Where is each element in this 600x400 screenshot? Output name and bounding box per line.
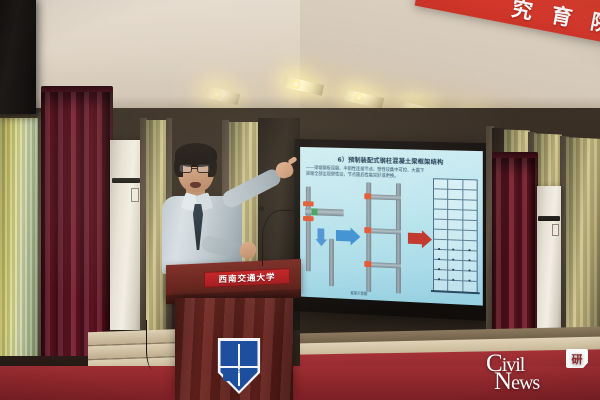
emblem-rail-bar bbox=[242, 350, 255, 352]
slide-ladder-beam-3 bbox=[366, 262, 401, 268]
slide-arrow-red-head bbox=[422, 230, 432, 249]
watermark-n: N bbox=[494, 368, 511, 395]
microphone-head bbox=[259, 206, 264, 211]
curtain-right bbox=[492, 158, 538, 336]
slide-detail-joint-green bbox=[312, 208, 318, 215]
banner-char-2: 育 bbox=[549, 0, 575, 33]
projection-screen: 6）预制装配式钢柱混凝土梁框架结构 ——梁端钢板屈服、半刚性连接节点，塑性铰集中… bbox=[300, 147, 483, 306]
ac-badge-right bbox=[552, 224, 559, 236]
wall-panel-olive-right-3 bbox=[566, 137, 600, 331]
watermark-civil-news: Civil News 研 bbox=[484, 348, 592, 396]
slide-arrow-red-body bbox=[408, 233, 423, 245]
slide-grid-hinge bbox=[438, 258, 440, 260]
watermark-badge: 研 bbox=[566, 349, 588, 368]
slide-grid-hinge bbox=[438, 248, 440, 250]
slide-grid-hinge bbox=[468, 259, 470, 261]
floor-cable bbox=[146, 320, 164, 370]
slide-arrow-down-head bbox=[315, 239, 327, 246]
slide-grid-hinge bbox=[438, 268, 440, 270]
slide-grid-hinge bbox=[468, 269, 470, 271]
loudspeaker-box bbox=[0, 0, 36, 114]
microphone-gooseneck bbox=[262, 210, 298, 266]
presenter-glasses-left-lens bbox=[179, 164, 192, 173]
slide-ladder-joint-1 bbox=[364, 193, 371, 199]
presenter-finger bbox=[287, 156, 297, 165]
slide-grid-vline bbox=[462, 179, 463, 292]
presenter-glasses-right-lens bbox=[197, 164, 210, 173]
presenter-mouth bbox=[190, 182, 201, 188]
slide-grid-hinge bbox=[452, 248, 454, 250]
ac-unit-left bbox=[110, 140, 142, 330]
slide-detail-column-lower bbox=[329, 239, 334, 287]
slide-detail-column bbox=[306, 186, 311, 271]
slide-ladder-joint-3 bbox=[364, 261, 371, 267]
slide-grid-hinge bbox=[452, 259, 454, 261]
presenter-glasses-bridge bbox=[192, 168, 197, 169]
slide-grid-hinge bbox=[468, 249, 470, 251]
slide-grid-hinge bbox=[452, 279, 454, 281]
slide-detail-joint-bottom bbox=[303, 216, 314, 221]
emblem-gear-glyph bbox=[223, 374, 234, 381]
slide-detail-joint-top bbox=[303, 201, 314, 206]
curtain-left bbox=[41, 92, 113, 368]
banner-char-3: 院 bbox=[588, 6, 600, 39]
ac-badge-left bbox=[131, 188, 139, 202]
slide-ladder-joint-2 bbox=[364, 227, 371, 233]
banner-char-1: 究 bbox=[509, 0, 535, 26]
slide-grid-hinge bbox=[452, 269, 454, 271]
photo-scene: 究 育 院 6）预制装配式钢柱混凝 bbox=[0, 0, 600, 400]
emblem-theodolite-top bbox=[240, 372, 250, 374]
university-emblem: 西南交通大学 bbox=[215, 338, 263, 394]
watermark-badge-char: 研 bbox=[566, 349, 588, 368]
projection-screen-frame: 6）预制装配式钢柱混凝土梁框架结构 ——梁端钢板屈服、半刚性连接节点，塑性铰集中… bbox=[294, 139, 489, 321]
slide-grid-frame bbox=[433, 178, 478, 293]
emblem-rail-tie bbox=[242, 346, 247, 349]
watermark-line-2: News bbox=[494, 368, 539, 396]
slide-caption: 框架示意图 bbox=[351, 290, 368, 296]
slide-ladder-beam-1 bbox=[366, 194, 401, 200]
slide-grid-vline bbox=[447, 179, 448, 292]
slide-title: 6）预制装配式钢柱混凝土梁框架结构 bbox=[300, 154, 483, 168]
wall-panel-green-left bbox=[0, 118, 40, 368]
slide-ladder-beam-2 bbox=[366, 228, 401, 234]
podium-plaque-text: 西南交通大学 bbox=[218, 271, 275, 286]
slide-arrow-blue-head bbox=[351, 227, 361, 245]
emblem-divider-vertical bbox=[238, 344, 240, 386]
watermark-ews: ews bbox=[511, 372, 539, 394]
slide-arrow-blue-body bbox=[336, 230, 352, 242]
ac-unit-right bbox=[537, 186, 561, 342]
presenter-raised-arm bbox=[220, 167, 283, 210]
slide-grid-hinge bbox=[468, 280, 470, 282]
emblem-theodolite-glyph bbox=[244, 373, 246, 383]
slide-grid-hinge bbox=[438, 278, 440, 280]
